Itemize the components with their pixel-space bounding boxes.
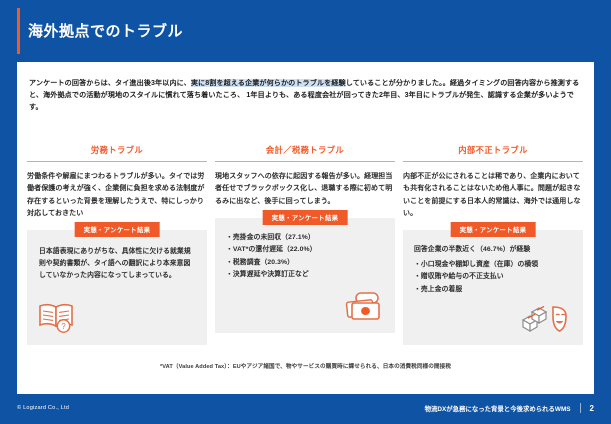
page-title: 海外拠点でのトラブル bbox=[28, 20, 183, 41]
footnote: *VAT（Value Added Tax）：EUやアジア諸国で、物やサービスの購… bbox=[17, 362, 594, 370]
footer-divider bbox=[580, 403, 581, 413]
banknotes-icon bbox=[343, 290, 387, 327]
boxes-mask-icon bbox=[519, 304, 575, 339]
intro-highlight: 実に8割を超える企業が何らかのトラブルを経験 bbox=[191, 79, 346, 87]
list-item: ・小口現金や棚卸し資産（在庫）の横領 bbox=[414, 259, 573, 272]
column-heading: 労務トラブル bbox=[27, 144, 207, 162]
column-accounting-tax-trouble: 会計／税務トラブル 現地スタッフへの依存に起因する報告が多い。経理担当者任せでブ… bbox=[215, 144, 395, 345]
column-internal-fraud-trouble: 内部不正トラブル 内部不正が公にされることは稀であり、企業内においても共有化され… bbox=[403, 144, 583, 345]
intro-paragraph: アンケートの回答からは、タイ進出後3年以内に、実に8割を超える企業が何らかのトラ… bbox=[29, 77, 582, 114]
content-panel: アンケートの回答からは、タイ進出後3年以内に、実に8割を超える企業が何らかのトラ… bbox=[17, 62, 594, 394]
column-heading: 会計／税務トラブル bbox=[215, 144, 395, 162]
list-item: ・税務調査（20.3%） bbox=[226, 257, 385, 270]
book-question-icon: ? bbox=[37, 300, 77, 339]
stat-card: 実態・アンケート結果 日本語表現にありがちな、具体性に欠ける就業規則や契約書類が… bbox=[27, 230, 207, 345]
column-body-text: 労働条件や解雇にまつわるトラブルが多い。タイでは労働者保護の考えが強く、企業側に… bbox=[27, 171, 207, 220]
column-heading: 内部不正トラブル bbox=[403, 144, 583, 162]
stat-card: 実態・アンケート結果 ・売掛金の未回収（27.1%） ・VAT*の還付遅延（22… bbox=[215, 218, 395, 333]
slide: 海外拠点でのトラブル アンケートの回答からは、タイ進出後3年以内に、実に8割を超… bbox=[0, 0, 611, 424]
list-item: ・売掛金の未回収（27.1%） bbox=[226, 232, 385, 245]
footer-right: 物流DXが急務になった背景と今後求められるWMS 2 bbox=[425, 403, 594, 413]
stat-card-list: ・売掛金の未回収（27.1%） ・VAT*の還付遅延（22.0%） ・税務調査（… bbox=[215, 218, 395, 282]
column-body-text: 内部不正が公にされることは稀であり、企業内においても共有化されることはないため他… bbox=[403, 171, 583, 220]
status-badge: 実態・アンケート結果 bbox=[451, 222, 536, 237]
stat-card-list: ・小口現金や棚卸し資産（在庫）の横領 ・贈収賄や給与の不正支払い ・売上金の着服 bbox=[403, 257, 583, 297]
stat-card: 実態・アンケート結果 回答企業の半数近く（46.7%）が経験 ・小口現金や棚卸し… bbox=[403, 230, 583, 345]
column-body-text: 現地スタッフへの依存に起因する報告が多い。経理担当者任せでブラックボックス化し、… bbox=[215, 171, 395, 208]
list-item: ・決算遅延や決算訂正など bbox=[226, 269, 385, 282]
title-accent-bar bbox=[17, 8, 20, 54]
trouble-columns: 労務トラブル 労働条件や解雇にまつわるトラブルが多い。タイでは労働者保護の考えが… bbox=[27, 144, 584, 345]
column-labor-trouble: 労務トラブル 労働条件や解雇にまつわるトラブルが多い。タイでは労働者保護の考えが… bbox=[27, 144, 207, 345]
intro-before: アンケートの回答からは、タイ進出後3年以内に、 bbox=[29, 79, 191, 87]
status-badge: 実態・アンケート結果 bbox=[75, 222, 160, 237]
stat-card-text: 日本語表現にありがちな、具体性に欠ける就業規則や契約書類が、タイ語への翻訳により… bbox=[27, 230, 207, 282]
list-item: ・VAT*の還付遅延（22.0%） bbox=[226, 244, 385, 257]
page-number: 2 bbox=[590, 404, 594, 413]
slide-header: 海外拠点でのトラブル bbox=[0, 0, 611, 62]
copyright-text: © Logizard Co., Ltd bbox=[17, 405, 69, 411]
footer-doc-title: 物流DXが急務になった背景と今後求められるWMS bbox=[425, 404, 571, 413]
svg-text:?: ? bbox=[61, 322, 66, 331]
status-badge: 実態・アンケート結果 bbox=[263, 210, 348, 225]
list-item: ・売上金の着服 bbox=[414, 284, 573, 297]
list-item: ・贈収賄や給与の不正支払い bbox=[414, 271, 573, 284]
slide-footer: © Logizard Co., Ltd 物流DXが急務になった背景と今後求められ… bbox=[0, 398, 611, 424]
